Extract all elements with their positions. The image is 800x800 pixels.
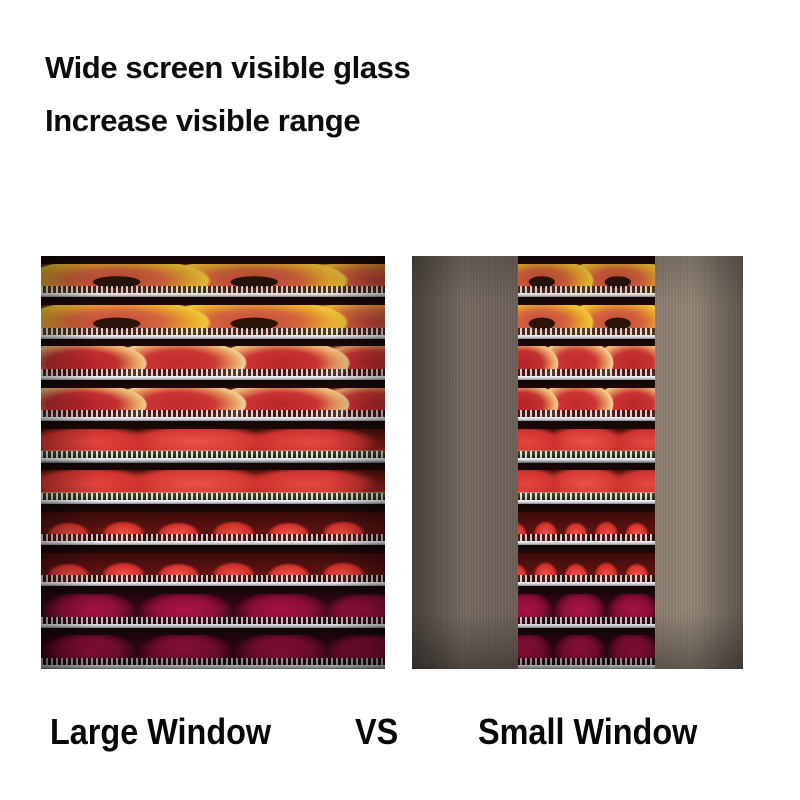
tray-watermelon-wedges [41,421,385,463]
tray-strawberries [41,504,385,546]
window-slot [518,256,655,669]
caption-row: Large Window VS Small Window [0,710,800,758]
tray-dragonfruit-slices [518,628,655,669]
headline-primary: Wide screen visible glass [45,52,410,83]
door-panel-left [412,256,518,669]
tray-dragonfruit-slices [41,628,385,669]
tray-rail [518,665,655,669]
photo-large-window [41,256,385,669]
tray-watermelon-wedges [41,463,385,505]
tray-rail [41,665,385,669]
caption-vs-separator: VS [355,710,398,754]
tray-papaya-slices [41,297,385,339]
tray-dragonfruit-slices [518,586,655,628]
tray-grapefruit-slices [518,380,655,422]
tray-dragonfruit-slices [41,586,385,628]
tray-strawberries [41,545,385,587]
tray-strawberries [518,504,655,546]
tray-watermelon-wedges [518,463,655,505]
tray-strawberries [518,545,655,587]
tray-watermelon-wedges [518,421,655,463]
headline-secondary: Increase visible range [45,105,410,136]
tray-stack-small [518,256,655,669]
tray-grapefruit-slices [41,380,385,422]
tray-stack-large [41,256,385,669]
tray-papaya-slices [518,256,655,298]
tray-grapefruit-slices [518,339,655,381]
caption-small-window: Small Window [478,710,697,754]
door-panel-right [655,256,743,669]
caption-large-window: Large Window [50,710,271,754]
comparison-photo-row [0,256,800,669]
tray-papaya-slices [518,297,655,339]
photo-small-window [412,256,743,669]
tray-grapefruit-slices [41,339,385,381]
tray-papaya-slices [41,256,385,298]
headline-block: Wide screen visible glass Increase visib… [45,52,410,136]
